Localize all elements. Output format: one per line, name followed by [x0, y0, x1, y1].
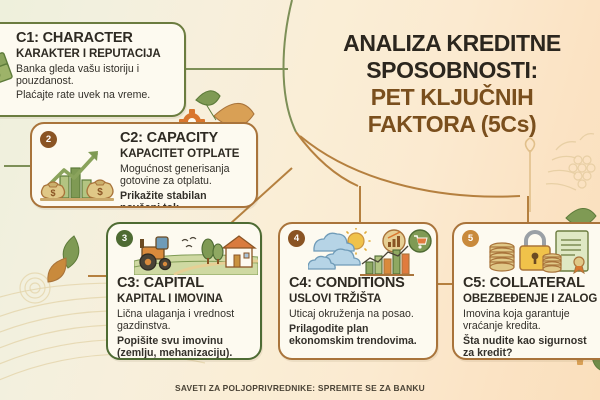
card-c4-tip: Prilagodite plan: [289, 323, 427, 335]
tractor-farm-icon: [134, 231, 258, 275]
card-c5-collateral[interactable]: 5: [452, 222, 600, 360]
card-c1-character[interactable]: 1 C1: CHARACTER KARAKTER I REPUTACIJA Ba…: [0, 22, 186, 117]
growth-chart-money-bags-icon: $ $: [38, 146, 116, 204]
headline-line-2: SPOSOBNOSTI:: [316, 57, 588, 84]
card-c2-tip: Prikažite stabilan novčani tok.: [120, 190, 247, 208]
card-c4-badge: 4: [288, 230, 305, 247]
card-c3-tip: Popišite svu imovinu: [117, 335, 251, 347]
card-c3-badge: 3: [116, 230, 133, 247]
page-title: ANALIZA KREDITNE SPOSOBNOSTI: PET KLJUČN…: [316, 30, 588, 138]
footer-caption: SAVETI ZA POLJOPRIVREDNIKE: SPREMITE SE …: [0, 383, 600, 393]
card-c3-tip-2: (zemlju, mehanizaciju).: [117, 347, 251, 359]
headline-line-3: PET KLJUČNIH: [316, 84, 588, 111]
card-c4-tip-2: ekonomskim trendovima.: [289, 335, 427, 347]
card-c1-body-1: Banka gleda vašu istoriju i: [16, 63, 175, 75]
card-c4-title-sr: USLOVI TRŽIŠTA: [289, 293, 427, 306]
card-c5-title-en: C5: COLLATERAL: [463, 276, 600, 292]
card-c3-title-en: C3: CAPITAL: [117, 276, 251, 292]
card-c5-tip-2: za kredit?: [463, 347, 600, 359]
card-c2-title-en: C2: CAPACITY: [120, 131, 247, 147]
lock-coins-document-icon: [484, 229, 596, 275]
svg-text:$: $: [50, 188, 55, 198]
card-c4-conditions[interactable]: 4: [278, 222, 438, 360]
card-c5-body-1: Imovina koja garantuje: [463, 308, 600, 320]
card-c1-title-sr: KARAKTER I REPUTACIJA: [16, 48, 175, 61]
leaf-decoration-left: [48, 236, 79, 282]
svg-text:$: $: [97, 187, 103, 198]
card-c3-title-sr: KAPITAL I IMOVINA: [117, 293, 251, 306]
card-c3-body-2: gazdinstva.: [117, 320, 251, 332]
card-c2-badge: 2: [40, 131, 57, 148]
card-c5-tip: Šta nudite kao sigurnost: [463, 335, 600, 347]
infographic-canvas: ANALIZA KREDITNE SPOSOBNOSTI: PET KLJUČN…: [0, 0, 600, 400]
card-c4-title-en: C4: CONDITIONS: [289, 276, 427, 292]
card-c2-title-sr: KAPACITET OTPLATE: [120, 148, 247, 161]
card-c2-capacity[interactable]: 2 $ $: [30, 122, 258, 208]
card-c1-tip: Plaćajte rate uvek na vreme.: [16, 89, 175, 101]
card-c3-body-1: Lična ulaganja i vrednost: [117, 308, 251, 320]
card-c5-title-sr: OBEZBEĐENJE I ZALOG: [463, 293, 600, 306]
card-c2-body-1: Mogućnost generisanja: [120, 163, 247, 175]
card-c1-body-2: pouzdanost.: [16, 75, 175, 87]
money-bills-icon: [0, 50, 16, 96]
card-c5-badge: 5: [462, 230, 479, 247]
headline-line-4: FAKTORA (5Cs): [316, 111, 588, 138]
card-c5-body-2: vraćanje kredita.: [463, 320, 600, 332]
headline-line-1: ANALIZA KREDITNE: [316, 30, 588, 57]
card-c2-body-2: gotovine za otplatu.: [120, 175, 247, 187]
card-c1-title-en: C1: CHARACTER: [16, 31, 175, 47]
weather-market-chart-icon: [308, 228, 436, 276]
card-c3-capital[interactable]: 3: [106, 222, 262, 360]
card-c4-body-1: Uticaj okruženja na posao.: [289, 308, 427, 320]
